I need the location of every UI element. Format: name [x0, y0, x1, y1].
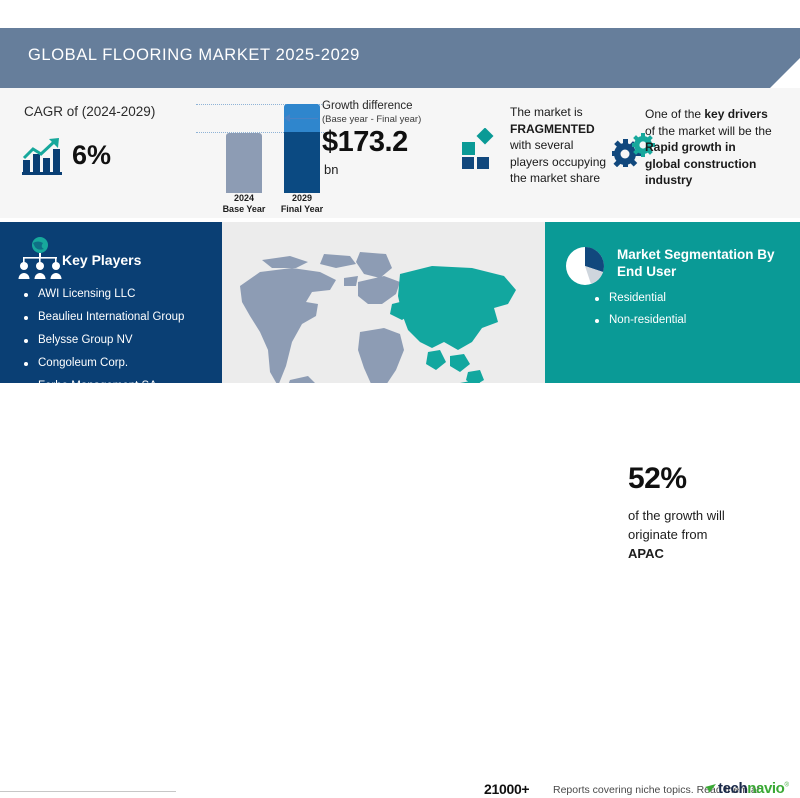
header-banner: GLOBAL FLOORING MARKET 2025-2029 [0, 28, 800, 88]
bar-caption-2029: 2029 Final Year [260, 193, 344, 215]
logo-text-navio: navio [747, 780, 784, 797]
region-map-panel: 52% of the growth will originate from AP… [222, 222, 545, 383]
key-drivers-text: One of the key drivers of the market wil… [645, 106, 795, 189]
growth-callout-title: Growth difference [322, 100, 413, 112]
list-item: Congoleum Corp. [22, 357, 184, 369]
key-players-title: Key Players [62, 252, 141, 268]
callout-connector [286, 118, 318, 119]
list-item: Belysse Group NV [22, 334, 184, 346]
bar-chart-growth-icon [20, 136, 66, 176]
segmentation-panel: Market Segmentation By End User Resident… [545, 222, 800, 383]
report-count: 21000+ [484, 781, 529, 797]
page-title: GLOBAL FLOORING MARKET 2025-2029 [28, 46, 360, 65]
bar-role-2024: Base Year [223, 204, 266, 214]
footer-divider [0, 791, 176, 792]
region-description: of the growth will originate from APAC [628, 506, 758, 563]
region-line2: originate from [628, 527, 707, 542]
fragmentation-line3: with several [510, 138, 573, 152]
drivers-line1-pre: One of the [645, 107, 704, 121]
bar-year-2029: 2029 [292, 193, 312, 203]
region-percentage: 52% [628, 462, 687, 496]
list-item: Non-residential [593, 314, 686, 326]
drivers-line1-bold: key drivers [704, 107, 767, 121]
list-item: AWI Licensing LLC [22, 288, 184, 300]
growth-amount: $173.2 [322, 126, 408, 159]
segmentation-list: Residential Non-residential [593, 292, 686, 336]
bar-2029-base [284, 132, 320, 193]
bar-2024 [226, 133, 262, 193]
fragmentation-text: The market is FRAGMENTED with several pl… [510, 104, 628, 187]
list-item: Residential [593, 292, 686, 304]
bar-role-2029: Final Year [281, 204, 323, 214]
world-map-apac-highlight [232, 246, 402, 356]
globe-people-icon [16, 236, 64, 280]
footer: 21000+ Reports covering niche topics. Re… [0, 383, 800, 450]
key-players-panel: Key Players AWI Licensing LLC Beaulieu I… [0, 222, 222, 383]
growth-amount-unit: bn [324, 162, 338, 177]
segmentation-title: Market Segmentation By End User [617, 246, 787, 280]
fragmentation-line4: players occupying [510, 155, 606, 169]
region-line3: APAC [628, 546, 664, 561]
region-line1: of the growth will [628, 508, 725, 523]
growth-callout-sub: (Base year - Final year) [322, 114, 421, 125]
drivers-line5: industry [645, 173, 692, 187]
fragmentation-line5: the market share [510, 171, 600, 185]
list-item: Beaulieu International Group [22, 311, 184, 323]
drivers-line2: of the market will be the [645, 124, 772, 138]
paper-plane-icon [704, 782, 717, 795]
fragmentation-line2: FRAGMENTED [510, 122, 595, 136]
growth-difference-callout: Growth difference (Base year - Final yea… [322, 100, 421, 126]
logo-trademark: ® [784, 783, 788, 789]
bar-year-2024: 2024 [234, 193, 254, 203]
infographic-root: GLOBAL FLOORING MARKET 2025-2029 CAGR of… [0, 0, 800, 450]
cagr-value: 6% [72, 140, 111, 171]
drivers-line3: Rapid growth in [645, 140, 736, 154]
drivers-line4: global construction [645, 157, 756, 171]
technavio-logo[interactable]: technavio® [704, 780, 789, 798]
logo-text-tech: tech [718, 780, 747, 797]
cagr-label: CAGR of (2024-2029) [24, 104, 155, 119]
callout-arrow-icon [284, 114, 290, 122]
squares-cluster-icon [462, 128, 502, 170]
pie-chart-icon [563, 244, 607, 288]
fragmentation-line1: The market is [510, 105, 583, 119]
